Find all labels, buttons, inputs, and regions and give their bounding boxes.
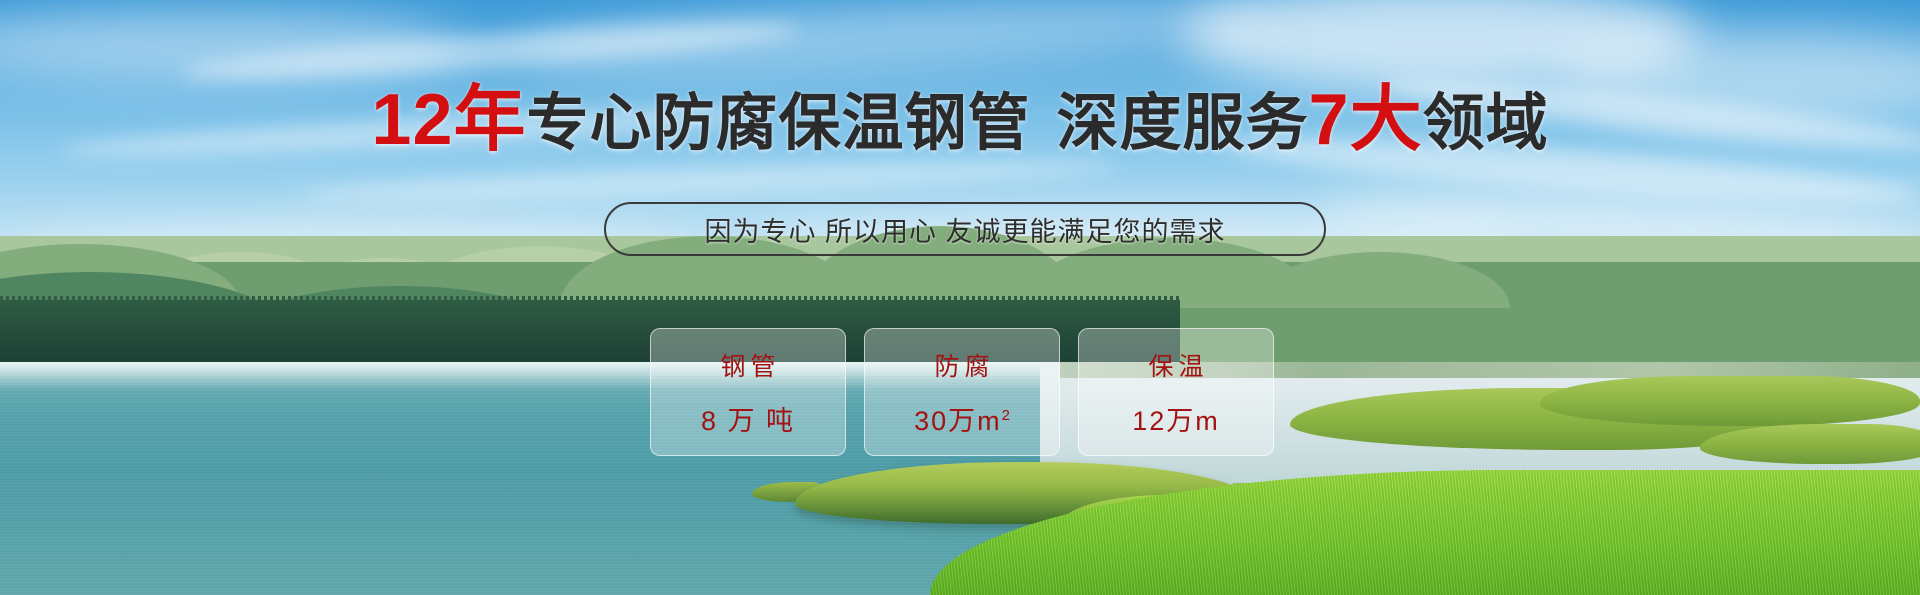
headline-years-red: 12年 [371,80,526,160]
headline: 12年专心防腐保温钢管深度服务7大领域 [0,84,1920,156]
stat-card-value: 30万m2 [914,399,1010,438]
stat-value-base: 30万m [914,406,1002,436]
subtitle-text: 因为专心 所以用心 友诚更能满足您的需求 [704,210,1225,249]
stat-card-value: 8 万 吨 [701,399,795,438]
promo-banner: 12年专心防腐保温钢管深度服务7大领域 因为专心 所以用心 友诚更能满足您的需求… [0,0,1920,595]
stat-card-label: 防腐 [929,347,994,383]
stat-card-group: 钢管 8 万 吨 防腐 30万m2 保温 12万m [650,328,1274,456]
stat-card-value: 12万m [1132,399,1220,438]
stat-card-insulation: 保温 12万m [1078,328,1274,456]
stat-value-base: 12万m [1132,406,1220,436]
stat-value-superscript: 2 [1002,407,1010,424]
subtitle-pill: 因为专心 所以用心 友诚更能满足您的需求 [604,202,1326,256]
headline-part-fields: 领域 [1423,89,1549,158]
stat-value-base: 8 万 吨 [701,406,795,436]
headline-seven-red: 7大 [1309,80,1423,160]
headline-part-service: 深度服务 [1057,89,1309,158]
stat-card-steel-pipe: 钢管 8 万 吨 [650,328,846,456]
headline-part-focus: 专心防腐保温钢管 [527,89,1031,158]
marsh-patch [1540,376,1920,426]
stat-card-label: 保温 [1143,347,1208,383]
stat-card-anticorrosion: 防腐 30万m2 [864,328,1060,456]
stat-card-label: 钢管 [715,347,780,383]
